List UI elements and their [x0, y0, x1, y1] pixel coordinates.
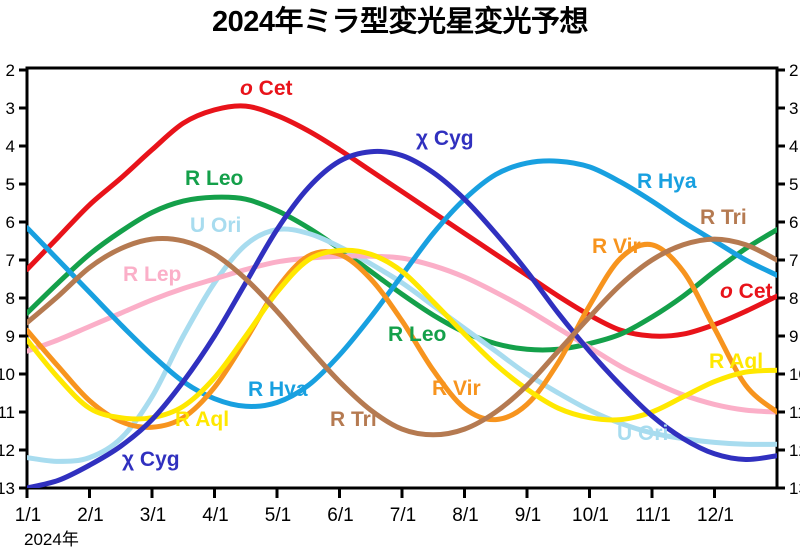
series-label-r-leo: R Leo — [388, 323, 446, 346]
series-label-r-aql: R Aql — [175, 408, 229, 431]
y-tick-label: 6 — [6, 213, 15, 232]
chart-svg: 2345678910111213 2345678910111213 o CetR… — [0, 0, 800, 553]
series-label-r-leo: R Leo — [185, 167, 243, 190]
y-tick-label: 3 — [6, 99, 15, 118]
y-tick-label: 10 — [0, 365, 15, 384]
series-label-cyg: χ Cyg — [122, 448, 180, 471]
x-tick-label: 8/1 — [452, 505, 478, 526]
series-label-r-hya: R Hya — [248, 378, 308, 401]
y-tick-label: 11 — [789, 403, 800, 422]
x-axis-label: 2024年 — [24, 530, 79, 549]
y-axis-right-ticks: 2345678910111213 — [777, 61, 800, 498]
y-tick-label: 3 — [789, 99, 798, 118]
x-tick-label: 12/1 — [697, 505, 734, 526]
series-label-r-vir: R Vir — [432, 377, 481, 400]
x-tick-label: 3/1 — [140, 505, 166, 526]
y-tick-label: 13 — [0, 479, 15, 498]
series-label-o-cet: o Cet — [720, 280, 773, 303]
x-tick-label: 1/1 — [15, 505, 41, 526]
series-label-r-hya: R Hya — [637, 170, 697, 193]
series-label-r-tri: R Tri — [330, 408, 377, 431]
y-tick-label: 13 — [789, 479, 800, 498]
y-tick-label: 9 — [6, 327, 15, 346]
y-tick-label: 12 — [789, 441, 800, 460]
y-tick-label: 7 — [789, 251, 798, 270]
series-label-cyg: χ Cyg — [416, 127, 474, 150]
x-tick-label: 6/1 — [327, 505, 353, 526]
y-tick-label: 12 — [0, 441, 15, 460]
y-tick-label: 4 — [789, 137, 798, 156]
y-tick-label: 2 — [6, 61, 15, 80]
x-tick-label: 4/1 — [202, 505, 228, 526]
series-label-r-vir: R Vir — [592, 235, 641, 258]
x-tick-label: 10/1 — [572, 505, 609, 526]
x-tick-label: 2/1 — [77, 505, 103, 526]
x-tick-label: 5/1 — [265, 505, 291, 526]
y-tick-label: 5 — [6, 175, 15, 194]
y-tick-label: 7 — [6, 251, 15, 270]
series-label-u-ori: U Ori — [190, 214, 241, 237]
x-axis-tick-labels: 1/12/13/14/15/16/17/18/19/110/111/112/1 — [15, 505, 734, 526]
y-axis-left-ticks: 2345678910111213 — [0, 61, 27, 498]
series-label-r-tri: R Tri — [700, 206, 747, 229]
y-tick-label: 8 — [789, 289, 798, 308]
x-tick-label: 11/1 — [635, 505, 671, 526]
series-label-o-cet: o Cet — [240, 77, 293, 100]
y-tick-label: 6 — [789, 213, 798, 232]
chart-plot-area: 2345678910111213 2345678910111213 o CetR… — [0, 0, 800, 553]
y-tick-label: 8 — [6, 289, 15, 308]
y-tick-label: 4 — [6, 137, 15, 156]
y-tick-label: 10 — [789, 365, 800, 384]
series-label-u-ori: U Ori — [617, 422, 668, 445]
series-label-r-aql: R Aql — [709, 350, 763, 373]
x-tick-label: 9/1 — [515, 505, 541, 526]
y-tick-label: 11 — [0, 403, 15, 422]
y-tick-label: 5 — [789, 175, 798, 194]
x-tick-label: 7/1 — [390, 505, 416, 526]
y-tick-label: 9 — [789, 327, 798, 346]
y-tick-label: 2 — [789, 61, 798, 80]
series-label-r-lep: R Lep — [123, 263, 181, 286]
